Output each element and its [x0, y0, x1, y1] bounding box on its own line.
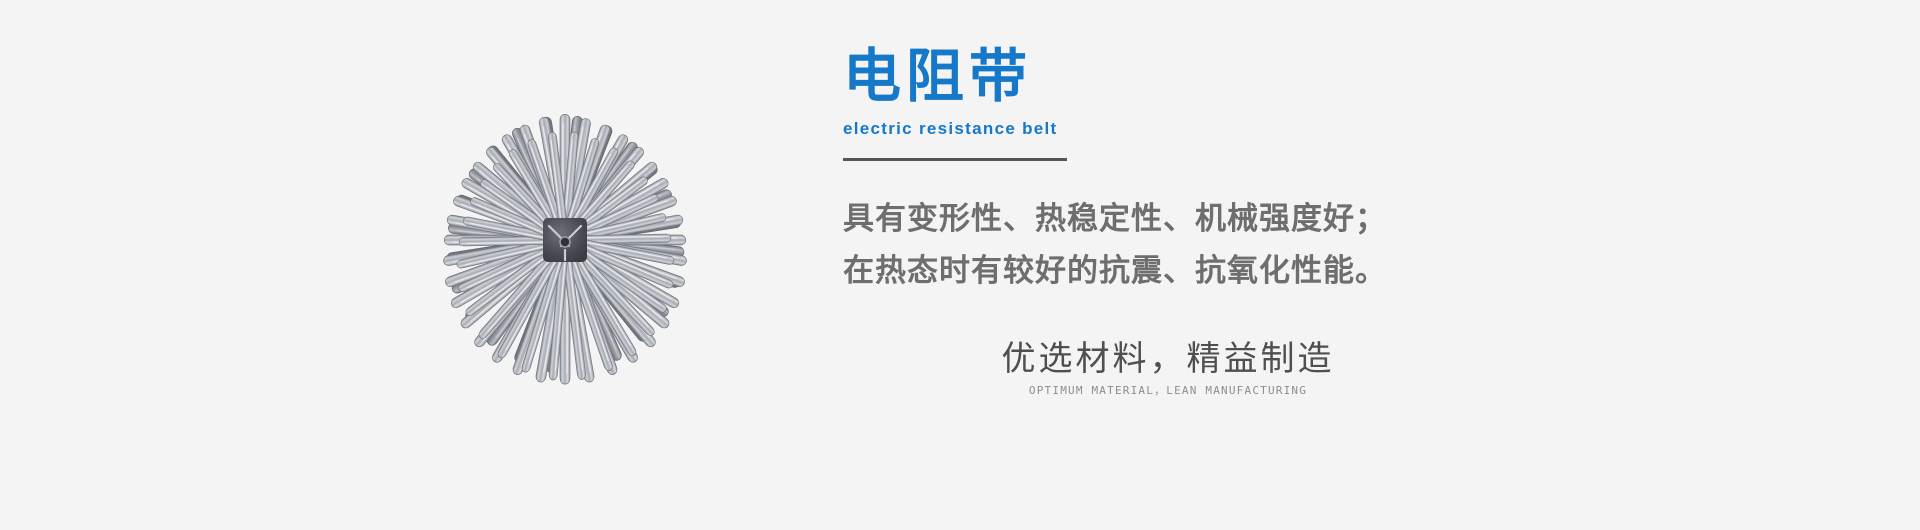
slogan-block: 优选材料，精益制造 OPTIMUM MATERIAL，LEAN MANUFACT…: [958, 337, 1378, 399]
resistance-belt-illustration: [355, 55, 775, 465]
slogan-english: OPTIMUM MATERIAL，LEAN MANUFACTURING: [958, 383, 1378, 399]
title-block: 电阻带 electric resistance belt: [843, 42, 1703, 161]
product-description: 具有变形性、热稳定性、机械强度好； 在热态时有较好的抗震、抗氧化性能。: [843, 193, 1703, 297]
product-banner: 电阻带 electric resistance belt 具有变形性、热稳定性、…: [0, 0, 1920, 530]
title-divider: [843, 158, 1067, 161]
slogan-chinese: 优选材料，精益制造: [958, 337, 1378, 381]
content-column: 电阻带 electric resistance belt 具有变形性、热稳定性、…: [843, 42, 1703, 502]
description-line-2: 在热态时有较好的抗震、抗氧化性能。: [843, 245, 1703, 297]
description-line-1: 具有变形性、热稳定性、机械强度好；: [843, 193, 1703, 245]
page-subtitle: electric resistance belt: [843, 118, 1703, 140]
product-image: [355, 55, 775, 465]
hub: [543, 218, 587, 262]
page-title: 电阻带: [843, 42, 1703, 110]
